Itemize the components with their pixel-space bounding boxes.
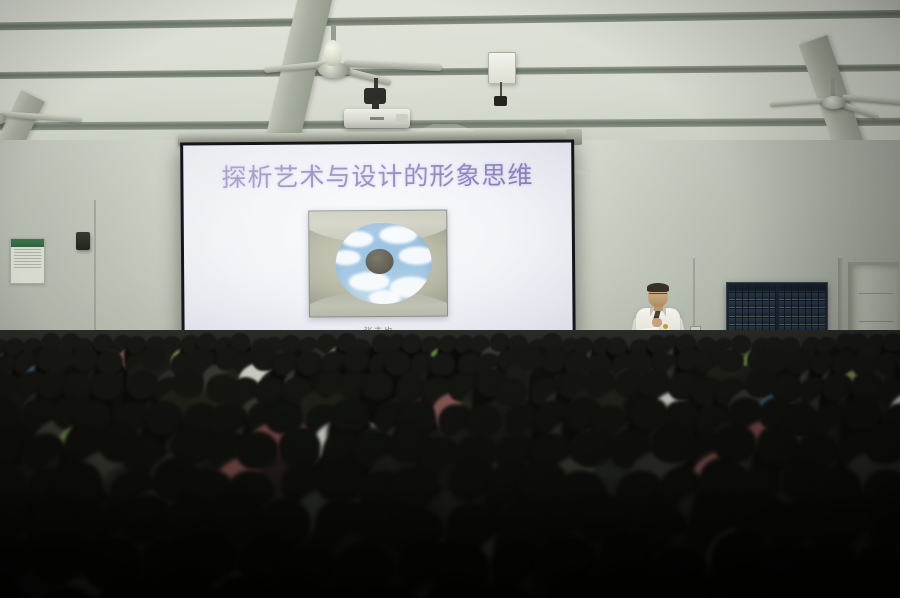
calendar-day-cell	[749, 318, 755, 325]
calendar-day-cell	[785, 318, 791, 325]
calendar-day-cell	[779, 301, 785, 308]
calendar-day-cell	[729, 301, 735, 308]
calendar-day-cell	[756, 301, 762, 308]
calendar-day-cell	[770, 301, 776, 308]
wall-conduit	[693, 258, 695, 326]
ceiling-beam	[0, 9, 900, 30]
calendar-day-cell	[792, 318, 798, 325]
calendar-day-cell	[812, 301, 818, 308]
calendar-header-cell	[743, 285, 749, 292]
audience-member-head	[173, 369, 205, 398]
calendar-day-cell	[779, 309, 785, 316]
calendar-day-cell	[763, 301, 769, 308]
cloud-shape	[399, 247, 432, 265]
calendar-day-cell	[763, 293, 769, 300]
calendar-day-cell	[806, 293, 812, 300]
calendar-header-cell	[779, 285, 785, 292]
audience	[0, 330, 900, 598]
audience-member-head	[883, 333, 900, 351]
fan-light-globe	[324, 40, 342, 66]
slide-surface: 探析艺术与设计的形象思维 张夫也 2022-06-08 北海	[183, 142, 573, 361]
calendar-day-cell	[729, 318, 735, 325]
calendar-day-cell	[729, 309, 735, 316]
calendar-header-cell	[819, 285, 825, 292]
calendar-day-cell	[736, 293, 742, 300]
calendar-day-cell	[749, 293, 755, 300]
calendar-day-cell	[749, 309, 755, 316]
presenter-badge	[663, 324, 668, 329]
notice-poster	[10, 238, 45, 284]
calendar-day-cell	[799, 293, 805, 300]
glasses-icon	[649, 293, 667, 297]
slide-artwork-eye-painting	[308, 209, 448, 317]
audience-member-head	[278, 427, 321, 467]
calendar-day-cell	[812, 293, 818, 300]
calendar-day-cell	[799, 301, 805, 308]
fan-hub	[822, 96, 846, 109]
calendar-day-cell	[819, 318, 825, 325]
audience-member-head	[140, 347, 166, 371]
calendar-day-cell	[819, 309, 825, 316]
calendar-header-cell	[736, 285, 742, 292]
calendar-day-cell	[812, 318, 818, 325]
calendar-header-cell	[812, 285, 818, 292]
calendar-header-cell	[763, 285, 769, 292]
notice-text-line	[14, 267, 41, 268]
calendar-day-cell	[763, 318, 769, 325]
cloud-shape	[335, 251, 360, 266]
artwork-pupil	[366, 249, 394, 274]
audience-member-head	[864, 424, 900, 464]
calendar-header-cell	[756, 285, 762, 292]
ceiling-beam	[0, 117, 900, 130]
calendar-day-cell	[799, 318, 805, 325]
calendar-day-cell	[736, 301, 742, 308]
notice-text-line	[14, 261, 41, 262]
calendar-day-cell	[792, 293, 798, 300]
calendar-day-cell	[756, 293, 762, 300]
calendar-day-cell	[792, 309, 798, 316]
calendar-day-cell	[819, 301, 825, 308]
slide-title: 探析艺术与设计的形象思维	[183, 162, 571, 190]
calendar-day-cell	[736, 318, 742, 325]
calendar-day-cell	[806, 301, 812, 308]
calendar-header-cell	[799, 285, 805, 292]
presenter-hand	[652, 318, 662, 327]
calendar-day-cell	[806, 309, 812, 316]
calendar-day-cell	[763, 309, 769, 316]
lecture-hall-photo: 探析艺术与设计的形象思维 张夫也 2022-06-08 北海	[0, 0, 900, 598]
calendar-day-cell	[819, 293, 825, 300]
fan-rod	[831, 78, 835, 96]
calendar-day-cell	[785, 309, 791, 316]
ceiling-fan	[0, 104, 86, 150]
calendar-day-cell	[743, 318, 749, 325]
cloud-shape	[349, 272, 389, 292]
calendar-header-cell	[749, 285, 755, 292]
wall-mounted-speaker	[76, 232, 90, 250]
fan-blade	[344, 60, 442, 71]
calendar-header-cell	[770, 285, 776, 292]
calendar-day-cell	[812, 309, 818, 316]
calendar-day-cell	[756, 318, 762, 325]
calendar-day-cell	[736, 309, 742, 316]
ceiling-fan	[800, 86, 900, 136]
calendar-day-cell	[779, 318, 785, 325]
projector-label	[370, 117, 384, 120]
notice-text-line	[14, 255, 41, 256]
calendar-day-cell	[806, 318, 812, 325]
calendar-day-cell	[785, 301, 791, 308]
calendar-day-cell	[770, 309, 776, 316]
calendar-day-cell	[743, 293, 749, 300]
calendar-day-cell	[729, 293, 735, 300]
audience-member-head	[343, 348, 369, 372]
calendar-day-cell	[779, 293, 785, 300]
calendar-day-cell	[770, 318, 776, 325]
notice-text-line	[14, 258, 41, 259]
cloud-shape	[341, 231, 374, 248]
audience-member-head	[756, 425, 799, 465]
cloud-shape	[379, 225, 417, 243]
presenter-hair	[647, 283, 669, 292]
notice-text-line	[14, 249, 41, 250]
notice-text-line	[14, 264, 41, 265]
calendar-day-cell	[785, 293, 791, 300]
calendar-header-cell	[729, 285, 735, 292]
calendar-day-cell	[792, 301, 798, 308]
calendar-day-cell	[799, 309, 805, 316]
white-wall-box	[488, 52, 516, 84]
cloud-shape	[368, 290, 401, 305]
ceiling-camera-icon	[494, 96, 507, 106]
notice-header-band	[11, 239, 44, 247]
notice-text-line	[14, 252, 41, 253]
calendar-day-cell	[749, 301, 755, 308]
calendar-header-cell	[792, 285, 798, 292]
calendar-day-cell	[743, 309, 749, 316]
door-panel-line	[859, 293, 893, 294]
calendar-header-cell	[785, 285, 791, 292]
calendar-day-cell	[743, 301, 749, 308]
fan-blade	[2, 111, 82, 123]
calendar-day-cell	[770, 293, 776, 300]
projector-lens	[396, 114, 408, 124]
audience-member-head	[362, 371, 394, 400]
ceiling-projector	[344, 78, 414, 130]
audience-member-head	[331, 398, 368, 432]
door-panel-line	[859, 321, 893, 322]
calendar-day-cell	[756, 309, 762, 316]
calendar-header-cell	[806, 285, 812, 292]
